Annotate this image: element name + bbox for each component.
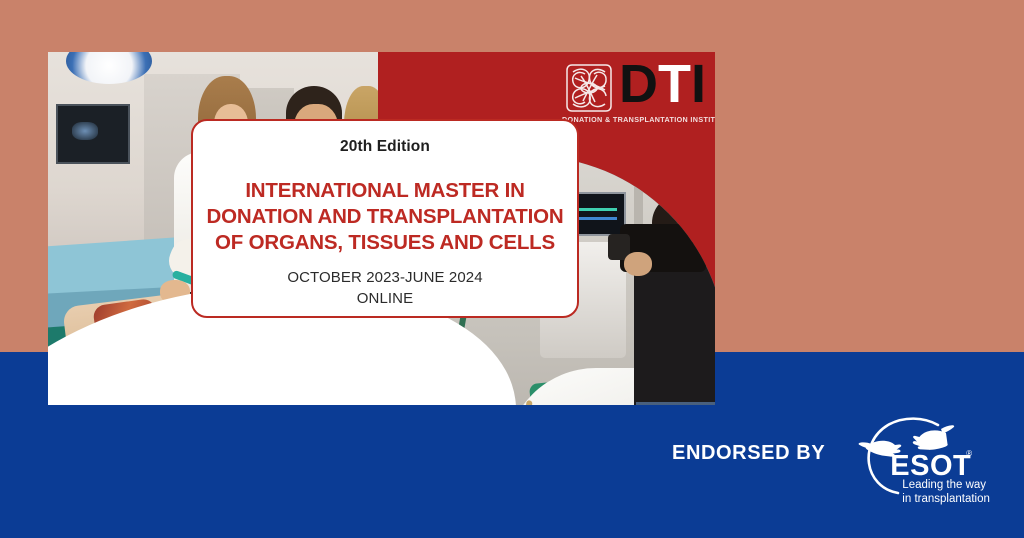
wall-monitor (56, 104, 130, 164)
camera-operator-hand (624, 252, 652, 276)
dti-tagline: DONATION & TRANSPLANTATION INSTITUTE (562, 115, 715, 124)
dti-letter-t: T (658, 54, 691, 114)
dti-wordmark: DTI (619, 56, 706, 112)
esot-tagline-line-1: Leading the way (902, 479, 990, 493)
edition-label: 20th Edition (193, 138, 577, 156)
course-title: INTERNATIONAL MASTER IN DONATION AND TRA… (193, 178, 577, 256)
esot-wordmark: ESOT (890, 451, 971, 481)
esot-registered-mark: ® (966, 449, 972, 458)
course-flyer: DTI DONATION & TRANSPLANTATION INSTITUTE… (48, 52, 715, 405)
esot-tagline: Leading the way in transplantation (902, 479, 990, 506)
camera-operator-jeans (636, 402, 715, 405)
dti-logo: DTI DONATION & TRANSPLANTATION INSTITUTE (561, 60, 713, 132)
course-title-line-1: INTERNATIONAL MASTER IN (201, 178, 569, 204)
course-title-line-2: DONATION AND TRANSPLANTATION (201, 204, 569, 230)
esot-logo: ESOT ® Leading the way in transplantatio… (846, 417, 988, 501)
course-delivery-mode: ONLINE (193, 288, 577, 309)
esot-tagline-line-2: in transplantation (902, 493, 990, 507)
dti-knot-icon (561, 62, 617, 114)
dti-letter-i: I (691, 54, 706, 114)
course-info-card: 20th Edition INTERNATIONAL MASTER IN DON… (191, 119, 579, 318)
endorsement-block: ENDORSED BY ESOT ® Leading the way in tr… (672, 425, 988, 495)
endorsed-by-label: ENDORSED BY (672, 442, 825, 465)
course-dates: OCTOBER 2023-JUNE 2024 (193, 267, 577, 288)
banner-page: DTI DONATION & TRANSPLANTATION INSTITUTE… (0, 0, 1024, 538)
dti-letter-d: D (619, 54, 658, 114)
course-title-line-3: OF ORGANS, TISSUES AND CELLS (201, 230, 569, 256)
